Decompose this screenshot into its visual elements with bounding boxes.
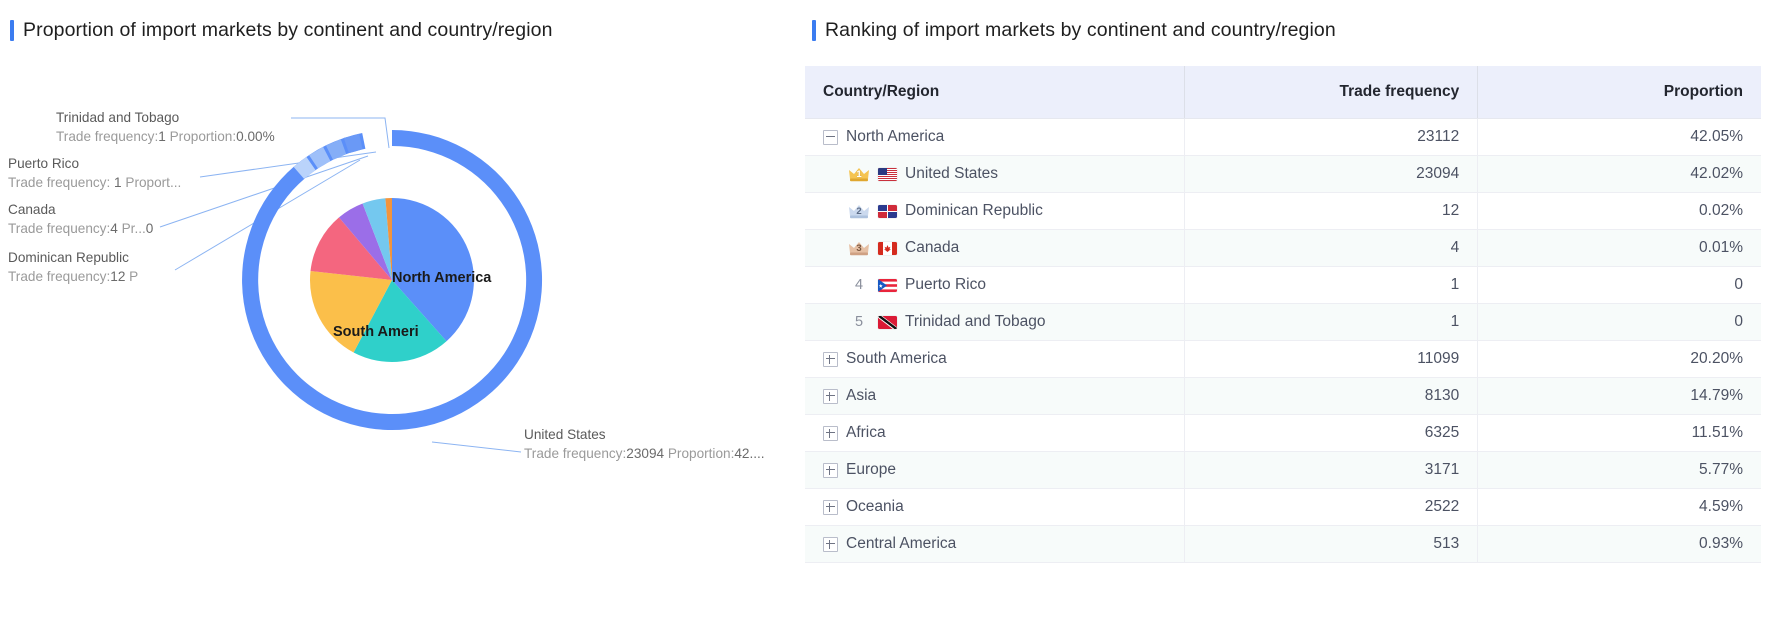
cell-country-region[interactable]: North America [805,119,1184,156]
cell-trade-frequency: 6325 [1184,415,1477,452]
table-row[interactable]: 4 [805,267,1761,304]
donut-chart-area: North America South Ameri Trinidad and T… [0,52,800,612]
cell-trade-frequency: 2522 [1184,489,1477,526]
chart-panel-title: Proportion of import markets by continen… [10,19,553,42]
flag-united-states-icon [878,168,897,181]
expand-toggle-icon[interactable] [823,537,838,552]
row-label: Puerto Rico [905,276,986,294]
cell-proportion: 0.93% [1478,526,1761,563]
column-header-trade-frequency[interactable]: Trade frequency [1184,66,1477,119]
cell-country-region[interactable]: Africa [805,415,1184,452]
cell-trade-frequency: 8130 [1184,378,1477,415]
table-row[interactable]: 3 Canada [805,230,1761,267]
row-label: Central America [846,535,956,553]
import-markets-chart-panel: Proportion of import markets by continen… [0,0,800,624]
column-header-proportion[interactable]: Proportion [1478,66,1761,119]
table-row[interactable]: 2 [805,193,1761,230]
callout-detail: Trade frequency:12 P [8,267,138,286]
callout-detail: Trade frequency:23094 Proportion:42.... [524,444,765,463]
cell-trade-frequency: 3171 [1184,452,1477,489]
cell-proportion: 0 [1478,304,1761,341]
ranking-table-wrap: Country/Region Trade frequency Proportio… [805,66,1761,563]
cell-country-region[interactable]: South America [805,341,1184,378]
cell-country-region[interactable]: Europe [805,452,1184,489]
table-row[interactable]: Europe 3171 5.77% [805,452,1761,489]
table-header-row: Country/Region Trade frequency Proportio… [805,66,1761,119]
table-row[interactable]: South America 11099 20.20% [805,341,1761,378]
table-row[interactable]: Africa 6325 11.51% [805,415,1761,452]
cell-proportion: 14.79% [1478,378,1761,415]
cell-proportion: 42.02% [1478,156,1761,193]
cell-proportion: 0 [1478,267,1761,304]
callout-detail: Trade frequency:4 Pr...0 [8,219,153,238]
callout-name: Dominican Republic [8,248,138,267]
cell-proportion: 42.05% [1478,119,1761,156]
flag-dominican-republic-icon [878,205,897,218]
callout-detail: Trade frequency: 1 Proport... [8,173,181,192]
callout-dominican-republic: Dominican Republic Trade frequency:12 P [8,248,138,286]
rank-number: 5 [848,314,870,330]
row-label: United States [905,165,998,183]
cell-trade-frequency: 4 [1184,230,1477,267]
table-row[interactable]: Asia 8130 14.79% [805,378,1761,415]
cell-country-region[interactable]: 3 Canada [805,230,1184,267]
cell-trade-frequency: 12 [1184,193,1477,230]
table-row[interactable]: North America 23112 42.05% [805,119,1761,156]
row-label: Oceania [846,498,904,516]
table-row[interactable]: Oceania 2522 4.59% [805,489,1761,526]
callout-name: Trinidad and Tobago [56,108,275,127]
row-label: South America [846,350,947,368]
table-row[interactable]: 1 [805,156,1761,193]
callout-name: Canada [8,200,153,219]
flag-trinidad-and-tobago-icon [878,316,897,329]
row-label: Canada [905,239,959,257]
cell-country-region[interactable]: 2 [805,193,1184,230]
row-label: Asia [846,387,876,405]
collapse-toggle-icon[interactable] [823,130,838,145]
cell-country-region[interactable]: Oceania [805,489,1184,526]
cell-trade-frequency: 1 [1184,267,1477,304]
callout-puerto-rico: Puerto Rico Trade frequency: 1 Proport..… [8,154,181,192]
callout-canada: Canada Trade frequency:4 Pr...0 [8,200,153,238]
cell-trade-frequency: 1 [1184,304,1477,341]
row-label: Dominican Republic [905,202,1043,220]
expand-toggle-icon[interactable] [823,463,838,478]
row-label: Africa [846,424,886,442]
cell-proportion: 4.59% [1478,489,1761,526]
rank-number: 1 [856,170,861,182]
cell-country-region[interactable]: 5 Trinidad and Tobago [805,304,1184,341]
title-accent-bar [812,20,816,41]
dashboard-page: Proportion of import markets by continen… [0,0,1766,624]
rank-medal-silver-icon: 2 [848,203,870,219]
inner-pie-group [310,198,474,362]
callout-detail: Trade frequency:1 Proportion:0.00% [56,127,275,146]
flag-puerto-rico-icon [878,279,897,292]
flag-canada-icon [878,242,897,255]
title-accent-bar [10,20,14,41]
rank-medal-gold-icon: 1 [848,166,870,182]
rank-number: 4 [848,277,870,293]
cell-trade-frequency: 23094 [1184,156,1477,193]
cell-proportion: 0.01% [1478,230,1761,267]
rank-number: 3 [856,244,861,256]
cell-proportion: 0.02% [1478,193,1761,230]
expand-toggle-icon[interactable] [823,389,838,404]
cell-proportion: 11.51% [1478,415,1761,452]
import-markets-ranking-panel: Ranking of import markets by continent a… [800,0,1766,624]
cell-country-region[interactable]: 4 [805,267,1184,304]
ranking-table: Country/Region Trade frequency Proportio… [805,66,1761,563]
cell-country-region[interactable]: 1 [805,156,1184,193]
row-label: Europe [846,461,896,479]
callout-united-states: United States Trade frequency:23094 Prop… [524,425,765,463]
rank-number: 2 [856,207,861,219]
callout-name: United States [524,425,765,444]
table-panel-title: Ranking of import markets by continent a… [812,19,1336,42]
callout-name: Puerto Rico [8,154,181,173]
cell-proportion: 5.77% [1478,452,1761,489]
row-label: Trinidad and Tobago [905,313,1045,331]
table-title-text: Ranking of import markets by continent a… [825,19,1336,42]
chart-title-text: Proportion of import markets by continen… [23,19,553,42]
cell-proportion: 20.20% [1478,341,1761,378]
cell-trade-frequency: 513 [1184,526,1477,563]
cell-trade-frequency: 11099 [1184,341,1477,378]
cell-country-region[interactable]: Asia [805,378,1184,415]
expand-toggle-icon[interactable] [823,426,838,441]
table-row[interactable]: 5 Trinidad and Tobago [805,304,1761,341]
expand-toggle-icon[interactable] [823,352,838,367]
table-row[interactable]: Central America 513 0.93% [805,526,1761,563]
cell-trade-frequency: 23112 [1184,119,1477,156]
expand-toggle-icon[interactable] [823,500,838,515]
row-label: North America [846,128,944,146]
rank-medal-bronze-icon: 3 [848,240,870,256]
column-header-country-region[interactable]: Country/Region [805,66,1184,119]
cell-country-region[interactable]: Central America [805,526,1184,563]
callout-trinidad-and-tobago: Trinidad and Tobago Trade frequency:1 Pr… [56,108,275,146]
